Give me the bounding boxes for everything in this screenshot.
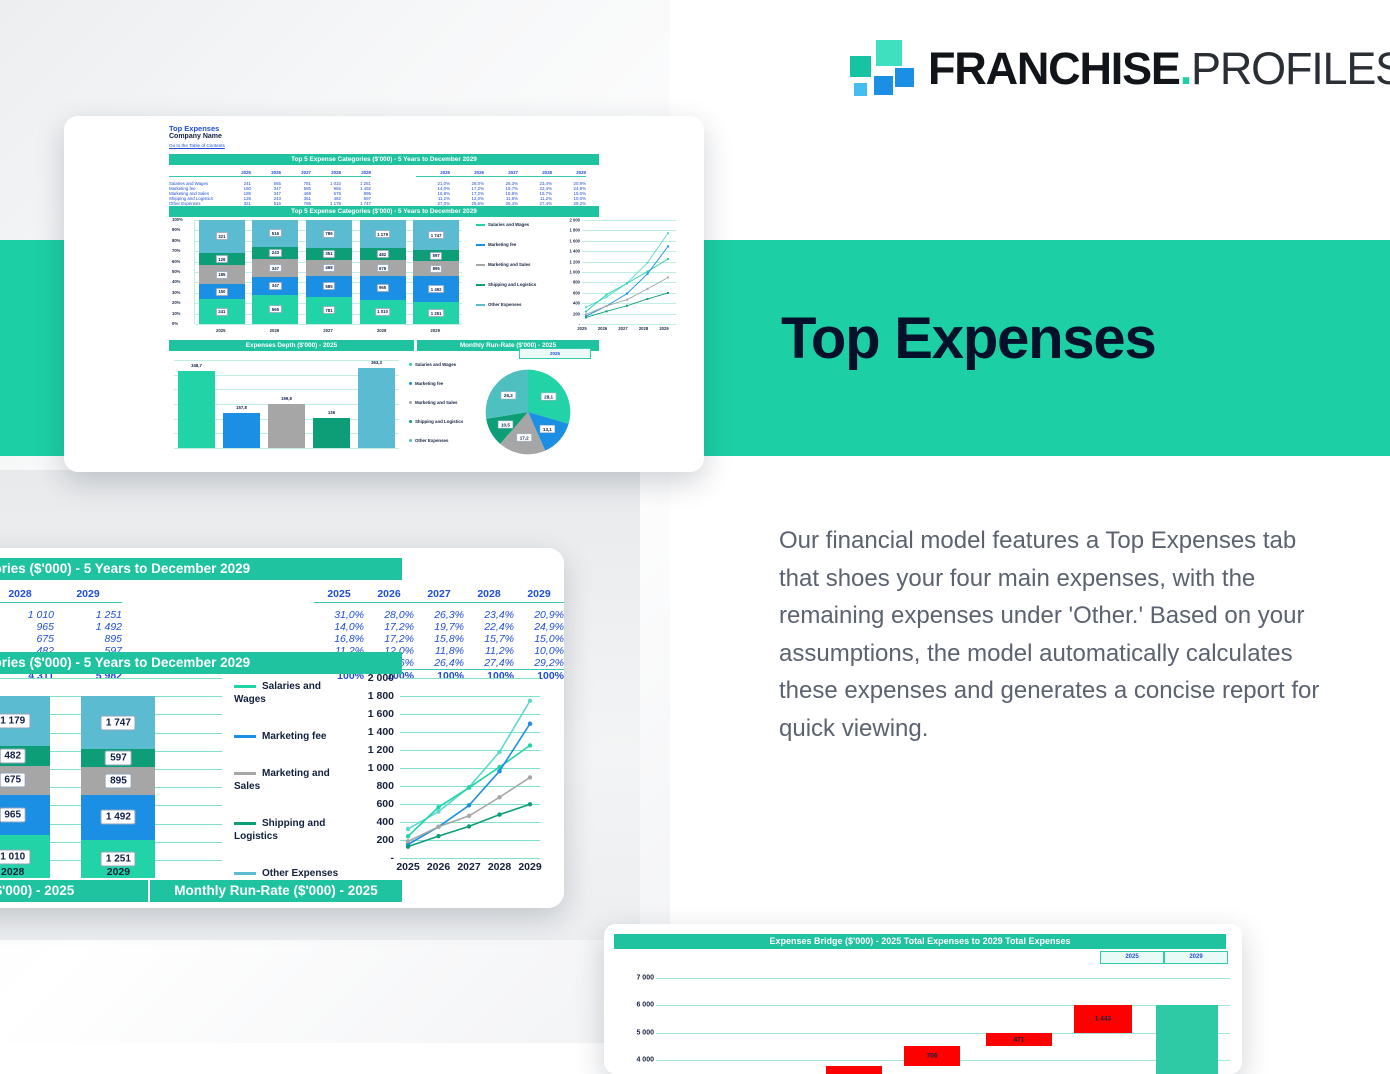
screenshot-card-expense-categories: Top 5 Expense Categories ($'000) - 5 Yea… <box>0 548 564 908</box>
legend-item: Marketing fee <box>476 242 546 248</box>
x-axis-label: 2027 <box>301 328 355 333</box>
y-axis-tick: 4 000 <box>618 1057 654 1064</box>
sheet-company: Company Name <box>169 133 222 140</box>
pct-axis-label: 40% <box>172 279 180 284</box>
x-axis-label: 2028 <box>484 861 516 873</box>
chart-legend-top: Salaries and WagesMarketing feeMarketing… <box>476 222 546 322</box>
bar-segment: 1 010 <box>360 300 406 324</box>
sheet-title: Top Expenses <box>169 124 219 133</box>
brand-logo: FRANCHISE.PROFILES <box>848 38 1390 98</box>
bar-segment: 965 <box>0 795 50 836</box>
brand-name-dot: . <box>1180 43 1191 94</box>
legend-swatch <box>409 420 412 423</box>
left-banner-depth: ses Depth ($'000) - 2025 <box>0 880 148 902</box>
svg-text:17,2: 17,2 <box>520 435 529 440</box>
table-row: 16,8%17,2%15,8%15,7%15,0% <box>314 633 564 645</box>
bar-segment: 347 <box>252 277 298 295</box>
legend-swatch <box>409 382 412 385</box>
pct-axis-label: 20% <box>172 300 180 305</box>
depth-bar: 136 <box>313 418 350 448</box>
depth-bar: 363,3 <box>358 368 395 448</box>
background-white-top-right <box>670 0 1390 240</box>
waterfall-bar <box>826 1066 882 1074</box>
bar-segment: 241 <box>199 299 245 324</box>
bar-segment: 321 <box>199 220 245 253</box>
legend-swatch <box>234 772 256 775</box>
stacked-bar-column: 1 1794826759651 010 <box>0 696 50 878</box>
x-axis-label: 2026 <box>248 328 302 333</box>
line-chart-top: -2004006008001 0001 2001 4001 6001 8002 … <box>564 220 676 332</box>
waterfall-total-bar <box>1156 1005 1218 1074</box>
waterfall-bar: 471 <box>986 1033 1052 1046</box>
pct-axis-label: 60% <box>172 259 180 264</box>
y-axis-tick: 7 000 <box>618 974 654 981</box>
screenshot-card-top-expenses: Top Expenses Company Name Go to the Tabl… <box>64 116 704 472</box>
bar-segment: 243 <box>252 247 298 260</box>
legend-swatch <box>234 872 256 875</box>
table-header-row: 2025 2026 2027 2028 2029 <box>416 170 586 177</box>
hero-description: Our financial model features a Top Expen… <box>779 522 1339 747</box>
waterfall-bar: 706 <box>904 1046 960 1065</box>
squares-logo-icon <box>848 38 910 98</box>
bar-segment: 781 <box>306 297 352 324</box>
bar-segment: 516 <box>252 220 298 247</box>
stacked-bar-column: 1 7475978951 4921 251 <box>81 696 155 878</box>
stacked-bar-chart-left: 78635146858578120271 1794826759651 01020… <box>0 678 222 878</box>
legend-swatch <box>234 822 256 825</box>
bar-segment: 126 <box>199 253 245 266</box>
bar-segment: 150 <box>199 284 245 299</box>
table-header-row: 2025 2026 2027 2028 2029 <box>169 170 374 177</box>
legend-swatch <box>476 224 485 226</box>
bar-segment: 895 <box>413 261 459 277</box>
svg-text:28,1: 28,1 <box>544 394 553 399</box>
x-axis-label: 2027 <box>453 861 485 873</box>
y-axis-tick: 6 000 <box>618 1002 654 1009</box>
banner-expense-categories: Top 5 Expense Categories ($'000) - 5 Yea… <box>169 154 599 165</box>
bar-segment: 597 <box>81 749 155 767</box>
runrate-year-chip[interactable]: 2025 <box>519 348 591 359</box>
stacked-bar-column: 786351468585781 <box>306 220 352 324</box>
brand-name-thin: PROFILES <box>1191 43 1390 94</box>
banner-expense-chart: Top 5 Expense Categories ($'000) - 5 Yea… <box>169 206 599 217</box>
legend-swatch <box>409 439 412 442</box>
svg-text:26,2: 26,2 <box>504 393 513 398</box>
stacked-bar-column: 1 7475978951 4921 251 <box>413 220 459 324</box>
legend-swatch <box>234 685 256 688</box>
waterfall-bar: 1 443 <box>1074 1005 1132 1033</box>
legend-swatch <box>409 363 412 366</box>
bar-segment: 351 <box>306 248 352 260</box>
x-axis-label: 2029 <box>656 326 672 331</box>
pct-axis-label: 70% <box>172 248 180 253</box>
legend-item: Salaries and Wages <box>409 362 471 368</box>
pct-axis-label: 90% <box>172 227 180 232</box>
legend-item: Salaries and Wages <box>476 222 546 228</box>
depth-bar: 348,7 <box>178 371 215 448</box>
legend-swatch <box>476 264 485 266</box>
x-axis-label: 2025 <box>392 861 424 873</box>
left-banner-chart: Top 5 Expense Categories ($'000) - 5 Yea… <box>0 652 402 674</box>
brand-wordmark: FRANCHISE.PROFILES <box>928 46 1390 91</box>
svg-text:10,5: 10,5 <box>501 422 510 427</box>
expenses-depth-chart: 348,7157,8199,8136363,3 <box>174 360 399 458</box>
table-header-row: 2026 2027 2028 2029 <box>0 588 122 603</box>
bar-segment: 185 <box>199 265 245 284</box>
bar-segment: 347 <box>252 259 298 277</box>
bar-segment: 565 <box>252 295 298 324</box>
legend-item: Other Expenses <box>234 867 354 880</box>
x-axis-label: 2029 <box>81 866 155 878</box>
legend-swatch <box>476 244 485 246</box>
bridge-chip-2029[interactable]: 2029 <box>1164 951 1228 964</box>
x-axis-label: 2028 <box>636 326 652 331</box>
legend-item: Marketing and Sales <box>234 767 354 793</box>
bar-segment: 468 <box>306 260 352 276</box>
bar-segment: 597 <box>413 250 459 260</box>
x-axis-label: 2025 <box>574 326 590 331</box>
legend-item: Salaries and Wages <box>234 680 354 706</box>
stacked-bar-chart-top: 3211261851502415162433473475657863514685… <box>172 220 462 332</box>
legend-item: Other Expenses <box>409 438 471 444</box>
pct-axis-label: 10% <box>172 311 180 316</box>
x-axis-label: 2029 <box>514 861 546 873</box>
legend-item: Other Expenses <box>476 302 546 308</box>
bar-segment: 482 <box>0 746 50 766</box>
line-series-svg <box>564 220 676 334</box>
x-axis-label: 2029 <box>408 328 462 333</box>
line-chart-left: -2004006008001 0001 2001 4001 6001 8002 … <box>360 678 540 876</box>
bar-segment: 786 <box>306 220 352 248</box>
bar-segment: 1 179 <box>360 220 406 248</box>
left-banner-runrate: Monthly Run-Rate ($'000) - 2025 <box>150 880 402 902</box>
pie-svg: 28,113,117,210,526,2 <box>482 366 574 458</box>
legend-item: Shipping and Logistics <box>476 282 546 288</box>
bar-segment: 1 747 <box>413 220 459 250</box>
monthly-runrate-pie-chart: 28,113,117,210,526,2 <box>482 366 574 458</box>
bar-segment: 895 <box>81 767 155 794</box>
toc-link[interactable]: Go to the Table of Contents <box>169 143 225 148</box>
pct-axis-label: 0% <box>172 321 178 326</box>
x-axis-label: 2025 <box>194 328 248 333</box>
pct-axis-label: 80% <box>172 238 180 243</box>
pct-axis-label: 100% <box>172 217 183 222</box>
legend-item: Marketing fee <box>234 730 354 743</box>
table-header-row: 2025 2026 2027 2028 2029 <box>314 588 564 603</box>
line-series-svg <box>360 678 540 870</box>
bar-segment: 482 <box>360 248 406 260</box>
pct-axis-label: 30% <box>172 290 180 295</box>
legend-swatch <box>476 284 485 286</box>
bar-segment: 1 747 <box>81 696 155 749</box>
left-chart-legend: Salaries and WagesMarketing feeMarketing… <box>234 680 354 904</box>
bridge-chip-2025[interactable]: 2025 <box>1100 951 1164 964</box>
stacked-bar-column: 1 1794826759651 010 <box>360 220 406 324</box>
depth-bar: 157,8 <box>223 413 260 448</box>
legend-swatch <box>234 735 256 738</box>
x-axis-label: 2028 <box>0 866 50 878</box>
depth-chart-legend: Salaries and WagesMarketing feeMarketing… <box>409 362 471 457</box>
legend-item: Shipping and Logistics <box>234 817 354 843</box>
bar-segment: 675 <box>360 260 406 276</box>
legend-swatch <box>409 401 412 404</box>
x-axis-label: 2026 <box>423 861 455 873</box>
x-axis-label: 2028 <box>355 328 409 333</box>
table-row: 3475859651 492 <box>0 621 122 633</box>
bar-segment: 1 251 <box>413 302 459 324</box>
left-banner-categories: Top 5 Expense Categories ($'000) - 5 Yea… <box>0 558 402 580</box>
stacked-bar-column: 516243347347565 <box>252 220 298 324</box>
table-row: 14,0%17,2%19,7%22,4%24,9% <box>314 621 564 633</box>
page-title: Top Expenses <box>781 310 1156 368</box>
legend-item: Shipping and Logistics <box>409 419 471 425</box>
bar-segment: 675 <box>0 766 50 794</box>
brand-name-bold: FRANCHISE <box>928 43 1180 94</box>
legend-item: Marketing and Sales <box>476 262 546 268</box>
legend-item: Marketing and Sales <box>409 400 471 406</box>
x-axis-label: 2027 <box>615 326 631 331</box>
x-axis-label: 2026 <box>595 326 611 331</box>
stacked-bar-column: 321126185150241 <box>199 220 245 324</box>
svg-text:13,1: 13,1 <box>543 427 552 432</box>
table-row: 31,0%28,0%26,3%23,4%20,9% <box>314 609 564 621</box>
bar-segment: 1 492 <box>81 795 155 840</box>
bar-segment: 965 <box>360 276 406 299</box>
bar-segment: 585 <box>306 276 352 296</box>
screenshot-card-expenses-bridge: Expenses Bridge ($'000) - 2025 Total Exp… <box>604 924 1242 1074</box>
bar-segment: 1 492 <box>413 276 459 302</box>
legend-item: Marketing fee <box>409 381 471 387</box>
legend-swatch <box>476 304 485 306</box>
banner-expenses-depth: Expenses Depth ($'000) - 2025 <box>169 340 414 351</box>
depth-bar: 199,8 <box>268 404 305 448</box>
bar-segment: 1 179 <box>0 696 50 746</box>
pct-axis-label: 50% <box>172 269 180 274</box>
table-row: 347468675895 <box>0 633 122 645</box>
y-axis-tick: 5 000 <box>618 1029 654 1036</box>
bridge-banner: Expenses Bridge ($'000) - 2025 Total Exp… <box>614 934 1226 949</box>
table-row: 5657811 0101 251 <box>0 609 122 621</box>
